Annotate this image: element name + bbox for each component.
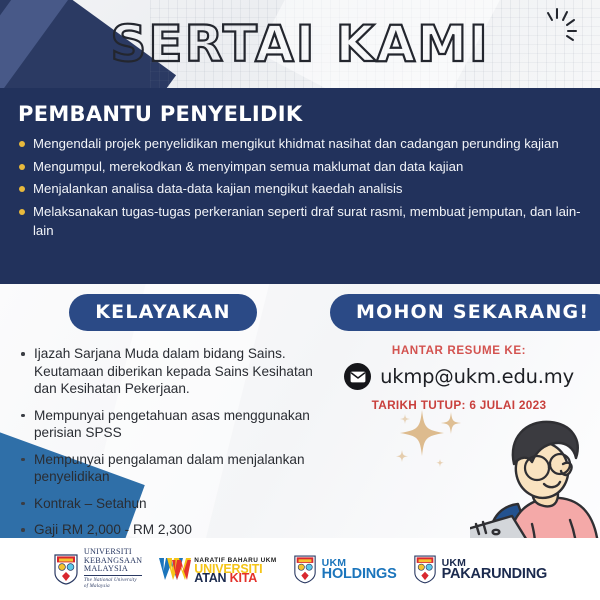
job-description-block: PEMBANTU PENYELIDIK Mengendali projek pe… xyxy=(0,88,600,284)
duty-item: Menjalankan analisa data-data kajian men… xyxy=(18,179,582,199)
logo-naratif-baharu: NARATIF BAHARU UKM UNIVERSITI ATAN KITA xyxy=(158,554,276,584)
logo-ukm-university: UNIVERSITI KEBANGSAAN MALAYSIA The Natio… xyxy=(53,548,142,589)
qualification-item: Gaji RM 2,000 - RM 2,300 xyxy=(18,521,328,538)
poster-header: SERTAI KAMI xyxy=(0,0,600,90)
qualification-item: Mempunyai pengalaman dalam menjalankan p… xyxy=(18,451,328,486)
qualifications-heading-badge: KELAYAKAN xyxy=(69,294,256,331)
footer-logos: UNIVERSITI KEBANGSAAN MALAYSIA The Natio… xyxy=(0,538,600,600)
qualifications-column: KELAYAKAN Ijazah Sarjana Muda dalam bida… xyxy=(18,294,328,538)
person-at-laptop-illustration xyxy=(470,412,600,538)
logo-ukm-holdings: UKM HOLDINGS xyxy=(293,554,397,584)
sparkle-burst-icon xyxy=(536,6,578,48)
envelope-icon xyxy=(344,363,371,390)
qualification-item: Mempunyai pengetahuan asas menggunakan p… xyxy=(18,407,328,442)
naratif-w-icon xyxy=(158,554,192,584)
holdings-line-2: HOLDINGS xyxy=(322,569,397,581)
ukm-line-3: MALAYSIA xyxy=(84,565,142,573)
poster-lower-section: KELAYAKAN Ijazah Sarjana Muda dalam bida… xyxy=(0,284,600,538)
ukm-tagline-2: of Malaysia xyxy=(84,584,142,590)
job-duties-list: Mengendali projek penyelidikan mengikut … xyxy=(18,134,582,241)
ukm-wordmark: UNIVERSITI KEBANGSAAN MALAYSIA The Natio… xyxy=(84,548,142,589)
naratif-wordmark: NARATIF BAHARU UKM UNIVERSITI ATAN KITA xyxy=(194,556,276,583)
qualification-item: Kontrak – Setahun xyxy=(18,495,328,513)
qualifications-list: Ijazah Sarjana Muda dalam bidang Sains. … xyxy=(18,345,328,538)
poster-title: SERTAI KAMI xyxy=(0,14,600,74)
recruitment-poster: SERTAI KAMI PEMBANTU PENYELIDIK Mengenda… xyxy=(0,0,600,600)
job-title: PEMBANTU PENYELIDIK xyxy=(18,102,582,126)
ukm-crest-icon xyxy=(413,554,437,584)
ukm-tagline-1: The National University xyxy=(84,575,142,584)
pakarunding-line-2: PAKARUNDING xyxy=(442,569,547,581)
apply-heading-badge: MOHON SEKARANG! xyxy=(330,294,600,331)
logo-ukm-pakarunding: UKM PAKARUNDING xyxy=(413,554,547,584)
ukm-crest-icon xyxy=(293,554,317,584)
send-resume-label: HANTAR RESUME KE: xyxy=(330,344,588,357)
duty-item: Melaksanakan tugas-tugas perkeranian sep… xyxy=(18,202,582,241)
ukm-crest-icon xyxy=(53,553,79,585)
duty-item: Mengendali projek penyelidikan mengikut … xyxy=(18,134,582,154)
apply-column: MOHON SEKARANG! HANTAR RESUME KE: ukmp@u… xyxy=(330,294,588,412)
naratif-bottom-a: ATAN xyxy=(194,571,229,585)
qualification-item: Ijazah Sarjana Muda dalam bidang Sains. … xyxy=(18,345,328,398)
email-address[interactable]: ukmp@ukm.edu.my xyxy=(380,365,574,388)
ukm-holdings-wordmark: UKM HOLDINGS xyxy=(322,558,397,581)
naratif-bottom-b: KITA xyxy=(230,571,257,585)
sparkle-stars-icon xyxy=(388,402,478,472)
ukm-pakarunding-wordmark: UKM PAKARUNDING xyxy=(442,558,547,581)
email-row[interactable]: ukmp@ukm.edu.my xyxy=(330,363,588,390)
duty-item: Mengumpul, merekodkan & menyimpan semua … xyxy=(18,157,582,177)
